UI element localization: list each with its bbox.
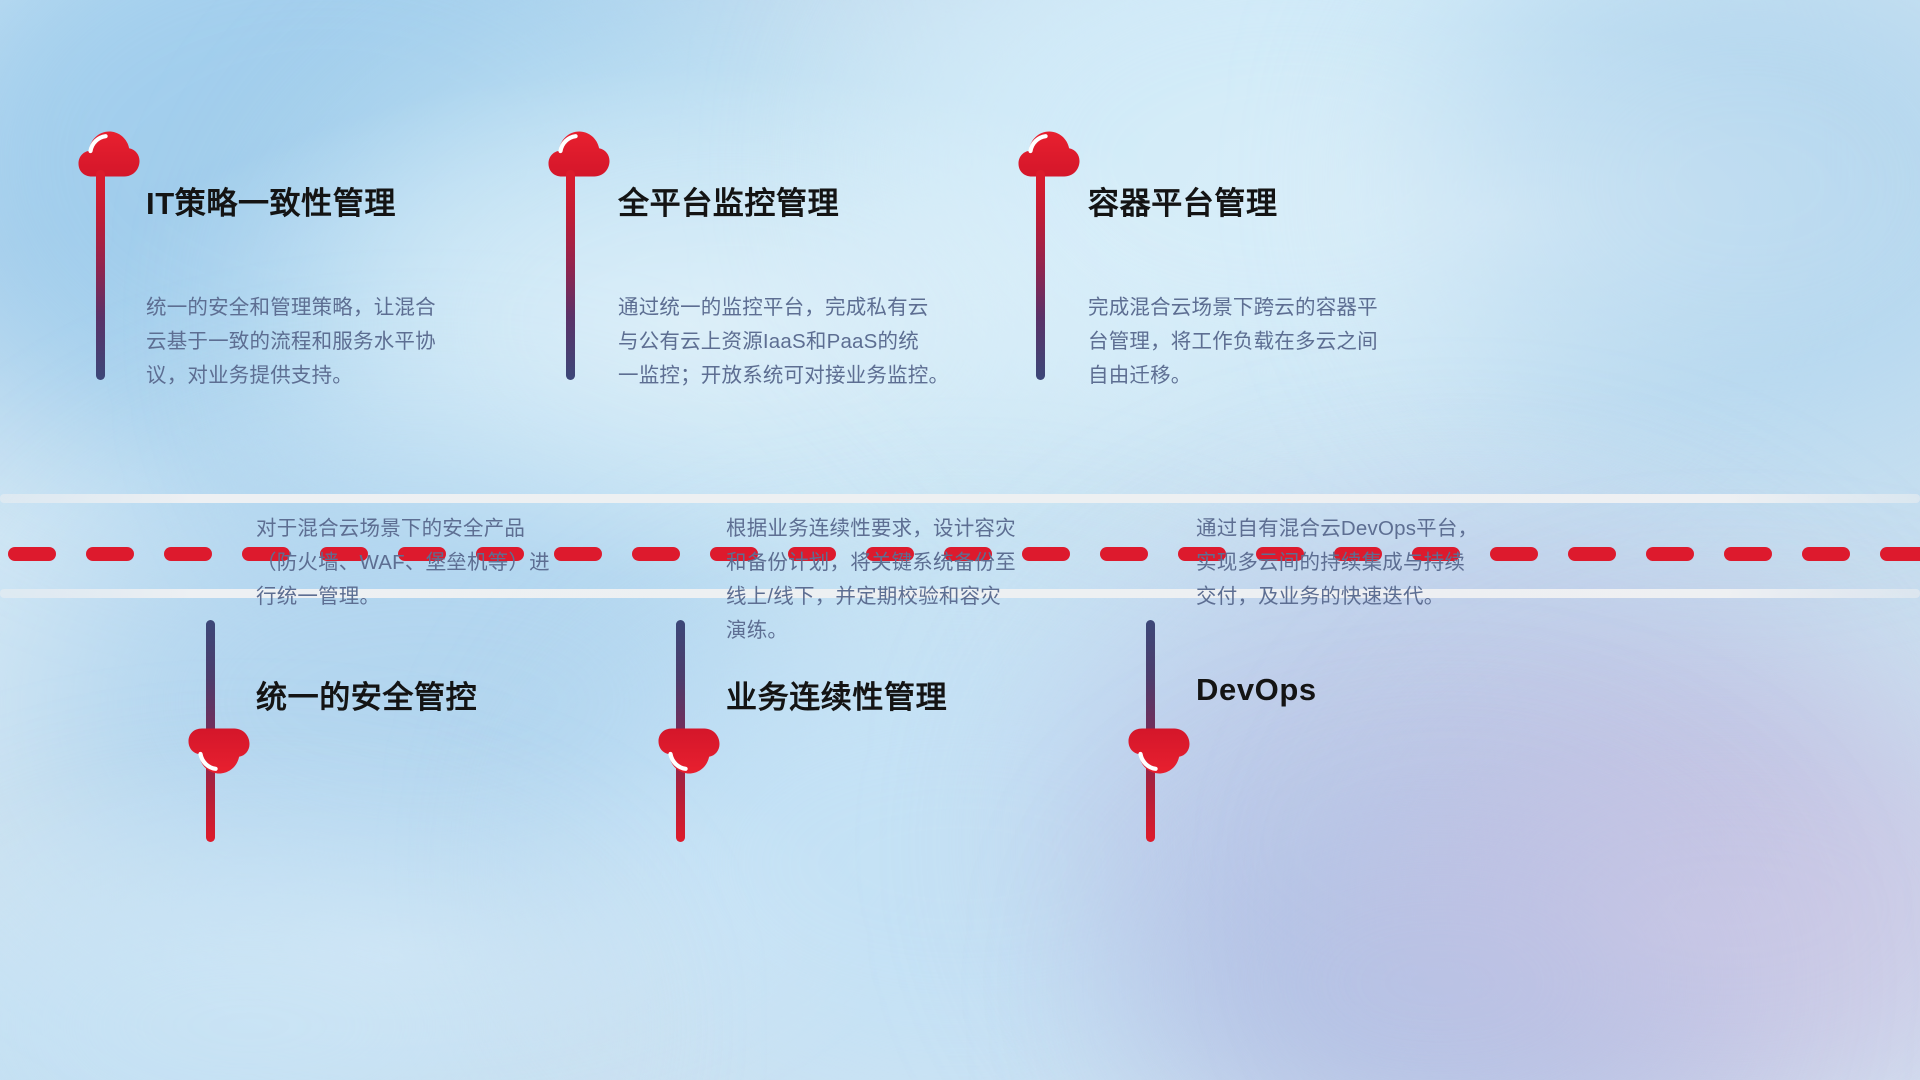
body-line: 实现多云间的持续集成与持续 [1196, 546, 1478, 580]
body-line: 台管理，将工作负载在多云之间 [1088, 325, 1378, 359]
body-line: 行统一管理。 [256, 580, 550, 614]
body-line: 统一的安全和管理策略，让混合 [146, 291, 436, 325]
body-line: 根据业务连续性要求，设计容灾 [726, 512, 1016, 546]
body-line: 线上/线下，并定期校验和容灾 [726, 580, 1016, 614]
cloud-icon [1018, 131, 1080, 177]
cloud-icon [658, 728, 720, 774]
body-line: 自由迁移。 [1088, 359, 1378, 393]
divider-dash [164, 547, 212, 561]
column-body: 通过统一的监控平台，完成私有云 与公有云上资源IaaS和PaaS的统 一监控；开… [618, 291, 949, 393]
column-body: 统一的安全和管理策略，让混合 云基于一致的流程和服务水平协 议，对业务提供支持。 [146, 291, 436, 393]
column-stem [566, 170, 575, 380]
column-title: 全平台监控管理 [618, 178, 839, 223]
divider-dash [1022, 547, 1070, 561]
body-line: （防火墙、WAF、堡垒机等）进 [256, 546, 550, 580]
body-line: 交付，及业务的快速迭代。 [1196, 580, 1478, 614]
divider-dash [1568, 547, 1616, 561]
divider-dash [1724, 547, 1772, 561]
column-body: 完成混合云场景下跨云的容器平 台管理，将工作负载在多云之间 自由迁移。 [1088, 291, 1378, 393]
divider-dash [1802, 547, 1850, 561]
cloud-icon [548, 131, 610, 177]
body-line: 一监控；开放系统可对接业务监控。 [618, 359, 949, 393]
divider-rule-top [0, 494, 1920, 503]
divider-dash [632, 547, 680, 561]
divider-dash [554, 547, 602, 561]
column-title: DevOps [1196, 672, 1317, 708]
column-stem [96, 170, 105, 380]
divider-dash [1490, 547, 1538, 561]
body-line: 通过自有混合云DevOps平台， [1196, 512, 1478, 546]
divider-dash [86, 547, 134, 561]
divider-dash [1100, 547, 1148, 561]
body-line: 议，对业务提供支持。 [146, 359, 436, 393]
cloud-icon [78, 131, 140, 177]
body-line: 完成混合云场景下跨云的容器平 [1088, 291, 1378, 325]
divider-dash [8, 547, 56, 561]
body-line: 演练。 [726, 614, 1016, 648]
column-body: 根据业务连续性要求，设计容灾 和备份计划，将关键系统备份至 线上/线下，并定期校… [726, 512, 1016, 648]
column-title: 容器平台管理 [1088, 178, 1278, 223]
body-line: 对于混合云场景下的安全产品 [256, 512, 550, 546]
column-title: 业务连续性管理 [726, 672, 947, 717]
cloud-icon [188, 728, 250, 774]
column-body: 对于混合云场景下的安全产品 （防火墙、WAF、堡垒机等）进 行统一管理。 [256, 512, 550, 614]
column-title: 统一的安全管控 [256, 672, 477, 717]
column-body: 通过自有混合云DevOps平台， 实现多云间的持续集成与持续 交付，及业务的快速… [1196, 512, 1478, 614]
body-line: 与公有云上资源IaaS和PaaS的统 [618, 325, 949, 359]
body-line: 通过统一的监控平台，完成私有云 [618, 291, 949, 325]
divider-dash [1646, 547, 1694, 561]
column-title: IT策略一致性管理 [146, 178, 396, 223]
body-line: 云基于一致的流程和服务水平协 [146, 325, 436, 359]
body-line: 和备份计划，将关键系统备份至 [726, 546, 1016, 580]
divider-dash [1880, 547, 1920, 561]
cloud-icon [1128, 728, 1190, 774]
column-stem [1036, 170, 1045, 380]
